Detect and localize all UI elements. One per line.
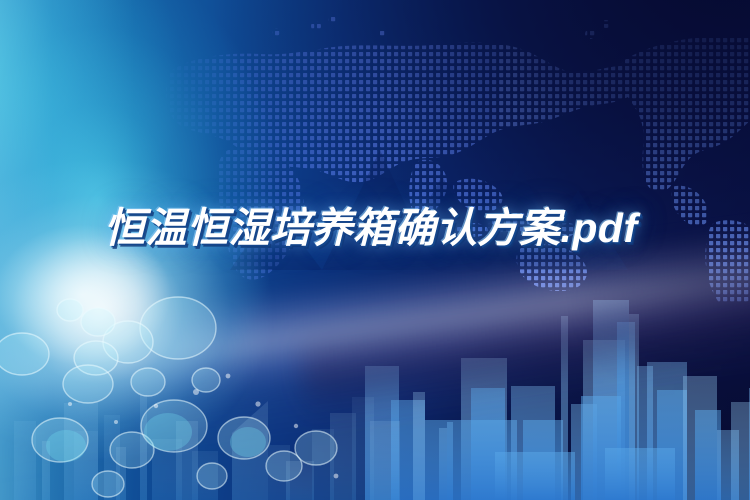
banner-title-block: 恒温恒湿培养箱确认方案.pdf: [104, 206, 664, 250]
banner-image: 恒温恒湿培养箱确认方案.pdf: [0, 0, 750, 500]
bubble-decoration: [0, 280, 430, 500]
page-title: 恒温恒湿培养箱确认方案.pdf: [104, 206, 664, 250]
